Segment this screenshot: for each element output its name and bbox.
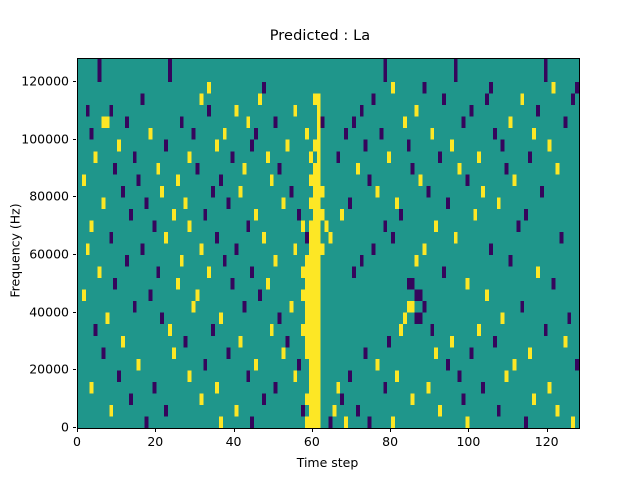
heatmap-axes — [77, 58, 580, 429]
y-tick-mark — [73, 81, 77, 82]
x-tick-label: 60 — [304, 434, 320, 449]
y-tick-label: 40000 — [29, 304, 69, 319]
y-tick-mark — [73, 139, 77, 140]
y-tick-label: 0 — [61, 420, 69, 435]
x-tick-label: 20 — [147, 434, 163, 449]
y-tick-label: 120000 — [21, 74, 69, 89]
y-tick-label: 80000 — [29, 189, 69, 204]
x-axis-label: Time step — [77, 455, 578, 470]
matplotlib-figure: Predicted : La 020406080100120 020000400… — [0, 0, 640, 480]
x-tick-label: 0 — [73, 434, 81, 449]
x-tick-label: 80 — [382, 434, 398, 449]
y-axis-label: Frequency (Hz) — [8, 181, 23, 321]
x-tick-label: 120 — [535, 434, 559, 449]
x-tick-mark — [77, 428, 78, 432]
y-tick-mark — [73, 369, 77, 370]
y-tick-label: 100000 — [21, 131, 69, 146]
y-tick-mark — [73, 312, 77, 313]
x-tick-mark — [390, 428, 391, 432]
chart-title: Predicted : La — [0, 28, 640, 44]
x-tick-label: 100 — [456, 434, 480, 449]
x-tick-label: 40 — [226, 434, 242, 449]
y-tick-mark — [73, 254, 77, 255]
y-tick-mark — [73, 196, 77, 197]
x-tick-mark — [312, 428, 313, 432]
y-tick-label: 20000 — [29, 362, 69, 377]
x-tick-mark — [547, 428, 548, 432]
x-tick-mark — [234, 428, 235, 432]
y-tick-mark — [73, 427, 77, 428]
y-tick-label: 60000 — [29, 247, 69, 262]
x-tick-mark — [155, 428, 156, 432]
x-tick-mark — [468, 428, 469, 432]
heatmap-image — [78, 59, 579, 428]
